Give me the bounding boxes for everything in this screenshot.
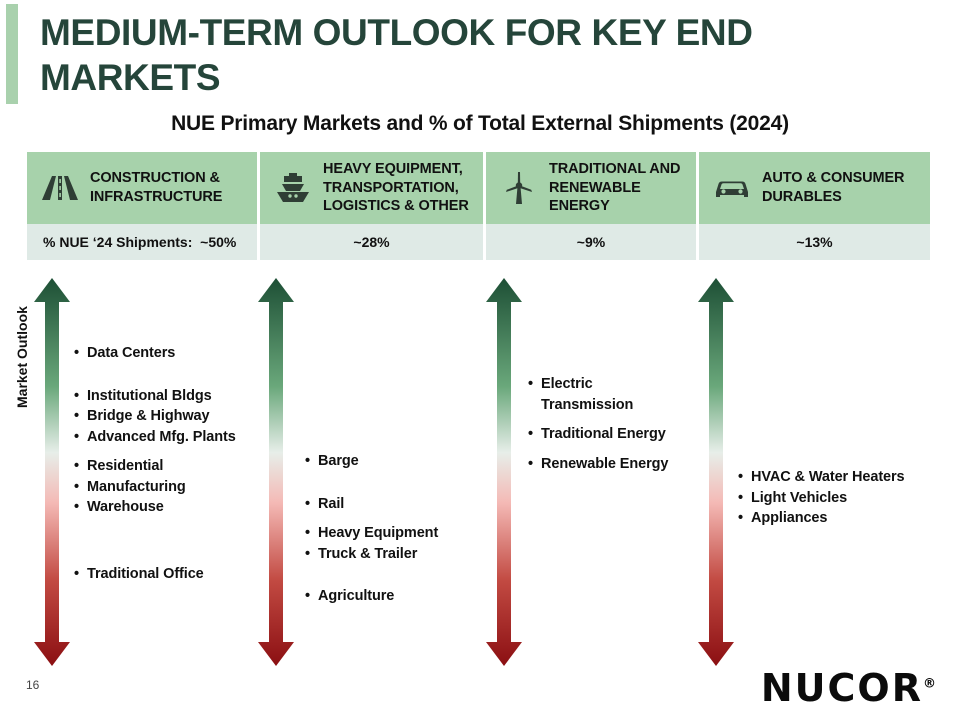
bullet-text: Appliances bbox=[751, 508, 827, 529]
bullet-dot-icon: • bbox=[74, 477, 87, 498]
bullet-text: Electric Transmission bbox=[541, 374, 633, 415]
bullet-text: Agriculture bbox=[318, 586, 394, 607]
bullet-list-energy: •Electric Transmission•Traditional Energ… bbox=[528, 374, 668, 474]
percent-prefix-label: % NUE ‘24 Shipments: bbox=[43, 234, 200, 250]
bullet-dot-icon: • bbox=[74, 497, 87, 518]
bullet-item: •Agriculture bbox=[305, 586, 438, 607]
bullet-dot-icon: • bbox=[305, 451, 318, 472]
bullet-text: Bridge & Highway bbox=[87, 406, 209, 427]
bullet-text: Data Centers bbox=[87, 343, 175, 364]
registered-trademark-icon: ® bbox=[923, 676, 936, 691]
bullet-list-construction: •Data Centers•Institutional Bldgs•Bridge… bbox=[74, 343, 236, 585]
bullet-item: •Manufacturing bbox=[74, 477, 236, 498]
bullet-text: Traditional Energy bbox=[541, 424, 666, 445]
road-icon bbox=[39, 167, 81, 209]
bullet-spacer bbox=[305, 514, 438, 523]
bullet-item: •Barge bbox=[305, 451, 438, 472]
segment-label: TRADITIONAL AND RENEWABLE ENERGY bbox=[549, 160, 696, 216]
bullet-spacer bbox=[528, 415, 668, 424]
bullet-text: Barge bbox=[318, 451, 359, 472]
car-icon bbox=[711, 167, 753, 209]
bullet-item: •Electric Transmission bbox=[528, 374, 668, 415]
bullet-list-heavy-equipment: •Barge•Rail•Heavy Equipment•Truck & Trai… bbox=[305, 451, 438, 607]
bullet-dot-icon: • bbox=[528, 454, 541, 475]
segment-percent-construction: % NUE ‘24 Shipments: ~50% bbox=[27, 224, 260, 260]
bullet-item: •Advanced Mfg. Plants bbox=[74, 427, 236, 448]
bullet-text: HVAC & Water Heaters bbox=[751, 467, 905, 488]
bullet-item: •Light Vehicles bbox=[738, 488, 905, 509]
bullet-item: •Data Centers bbox=[74, 343, 236, 364]
page-number: 16 bbox=[26, 678, 39, 692]
bullet-dot-icon: • bbox=[738, 508, 751, 529]
bullet-list-auto: •HVAC & Water Heaters•Light Vehicles•App… bbox=[738, 467, 905, 529]
bullet-text: Manufacturing bbox=[87, 477, 186, 498]
bullet-dot-icon: • bbox=[528, 424, 541, 445]
market-outlook-axis-label: Market Outlook bbox=[14, 306, 30, 408]
bullet-dot-icon: • bbox=[738, 467, 751, 488]
bullet-dot-icon: • bbox=[528, 374, 541, 395]
nucor-logo: NUCOR® bbox=[761, 666, 936, 710]
segment-percent-auto: ~13% bbox=[699, 224, 930, 260]
bullet-item: •HVAC & Water Heaters bbox=[738, 467, 905, 488]
bullet-spacer bbox=[74, 364, 236, 386]
bullet-dot-icon: • bbox=[738, 488, 751, 509]
segment-header-construction[interactable]: CONSTRUCTION & INFRASTRUCTURE bbox=[27, 152, 260, 224]
segment-header-auto[interactable]: AUTO & CONSUMER DURABLES bbox=[699, 152, 930, 224]
segment-label: CONSTRUCTION & INFRASTRUCTURE bbox=[90, 169, 257, 206]
bullet-item: •Heavy Equipment bbox=[305, 523, 438, 544]
segment-header-table: CONSTRUCTION & INFRASTRUCTURE HEAVY EQUI… bbox=[27, 152, 930, 260]
bullet-item: •Residential bbox=[74, 456, 236, 477]
page-title: MEDIUM-TERM OUTLOOK FOR KEY END MARKETS bbox=[40, 10, 920, 100]
bullet-dot-icon: • bbox=[74, 406, 87, 427]
market-outlook-arrow-heavy-equipment bbox=[258, 278, 294, 666]
wind-turbine-icon bbox=[498, 167, 540, 209]
segment-header-energy[interactable]: TRADITIONAL AND RENEWABLE ENERGY bbox=[486, 152, 699, 224]
market-outlook-arrow-construction bbox=[34, 278, 70, 666]
bullet-spacer bbox=[74, 518, 236, 564]
segment-percent-row: % NUE ‘24 Shipments: ~50% ~28% ~9% ~13% bbox=[27, 224, 930, 260]
bullet-item: •Bridge & Highway bbox=[74, 406, 236, 427]
bullet-spacer bbox=[74, 447, 236, 456]
segment-header-heavy-equipment[interactable]: HEAVY EQUIPMENT, TRANSPORTATION, LOGISTI… bbox=[260, 152, 486, 224]
bullet-dot-icon: • bbox=[305, 494, 318, 515]
percent-value: ~28% bbox=[353, 234, 389, 250]
bullet-text: Warehouse bbox=[87, 497, 164, 518]
bullet-spacer bbox=[528, 445, 668, 454]
logo-wordmark: NUCOR bbox=[761, 666, 923, 710]
bullet-dot-icon: • bbox=[74, 456, 87, 477]
market-outlook-arrow-energy bbox=[486, 278, 522, 666]
segment-percent-heavy-equipment: ~28% bbox=[260, 224, 486, 260]
title-accent-bar bbox=[6, 4, 18, 104]
bullet-dot-icon: • bbox=[305, 523, 318, 544]
bullet-text: Traditional Office bbox=[87, 564, 204, 585]
ship-icon bbox=[272, 167, 314, 209]
slide-subtitle: NUE Primary Markets and % of Total Exter… bbox=[0, 112, 960, 136]
bullet-item: •Truck & Trailer bbox=[305, 544, 438, 565]
bullet-spacer bbox=[305, 564, 438, 586]
bullet-item: •Renewable Energy bbox=[528, 454, 668, 475]
bullet-text: Institutional Bldgs bbox=[87, 386, 212, 407]
percent-value: ~9% bbox=[577, 234, 605, 250]
bullet-item: •Traditional Energy bbox=[528, 424, 668, 445]
segment-label: HEAVY EQUIPMENT, TRANSPORTATION, LOGISTI… bbox=[323, 160, 483, 216]
bullet-dot-icon: • bbox=[305, 586, 318, 607]
bullet-dot-icon: • bbox=[74, 427, 87, 448]
bullet-item: •Institutional Bldgs bbox=[74, 386, 236, 407]
bullet-item: •Warehouse bbox=[74, 497, 236, 518]
bullet-item: •Appliances bbox=[738, 508, 905, 529]
bullet-dot-icon: • bbox=[74, 386, 87, 407]
segment-label: AUTO & CONSUMER DURABLES bbox=[762, 169, 930, 206]
segment-percent-energy: ~9% bbox=[486, 224, 699, 260]
bullet-item: •Rail bbox=[305, 494, 438, 515]
bullet-text: Truck & Trailer bbox=[318, 544, 417, 565]
bullet-text: Heavy Equipment bbox=[318, 523, 438, 544]
percent-value: ~13% bbox=[796, 234, 832, 250]
bullet-text: Residential bbox=[87, 456, 163, 477]
percent-value: ~50% bbox=[200, 234, 236, 250]
bullet-text: Light Vehicles bbox=[751, 488, 847, 509]
bullet-text: Rail bbox=[318, 494, 344, 515]
bullet-dot-icon: • bbox=[74, 564, 87, 585]
bullet-dot-icon: • bbox=[74, 343, 87, 364]
bullet-text: Advanced Mfg. Plants bbox=[87, 427, 236, 448]
segment-header-row: CONSTRUCTION & INFRASTRUCTURE HEAVY EQUI… bbox=[27, 152, 930, 224]
bullet-dot-icon: • bbox=[305, 544, 318, 565]
bullet-spacer bbox=[305, 472, 438, 494]
market-outlook-arrow-auto bbox=[698, 278, 734, 666]
bullet-text: Renewable Energy bbox=[541, 454, 668, 475]
bullet-item: •Traditional Office bbox=[74, 564, 236, 585]
